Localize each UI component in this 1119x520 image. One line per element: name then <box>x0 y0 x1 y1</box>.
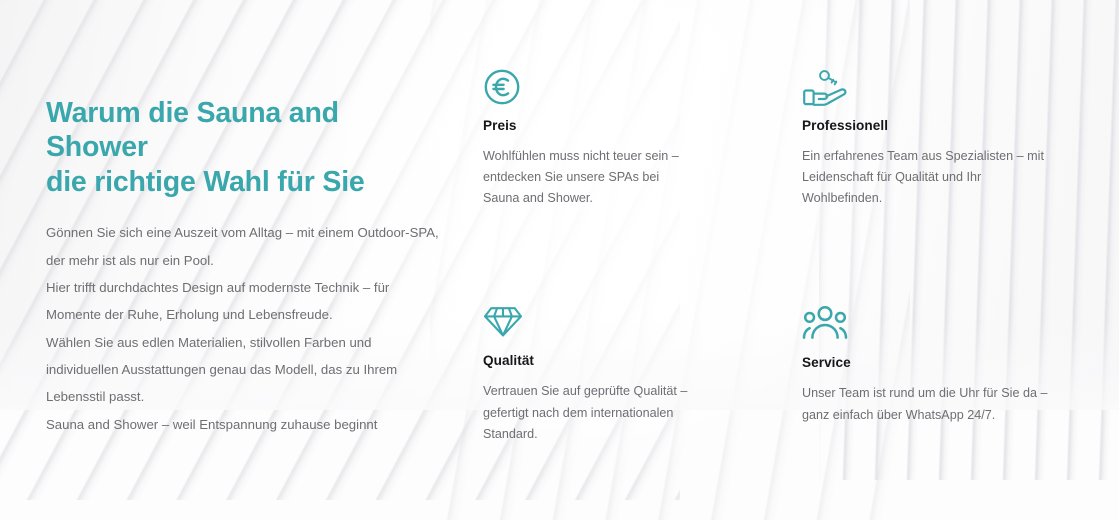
hand-key-icon <box>802 68 1057 108</box>
feature-column-1: Preis Wohlfühlen muss nicht teuer sein –… <box>483 68 698 445</box>
feature-description: Wohlfühlen muss nicht teuer sein – entde… <box>483 146 698 209</box>
feature-title: Professionell <box>802 118 1057 133</box>
feature-title: Qualität <box>483 353 698 368</box>
feature-item-preis: Preis Wohlfühlen muss nicht teuer sein –… <box>483 68 698 209</box>
why-choose-us-section: Warum die Sauna and Shower die richtige … <box>0 0 1119 410</box>
page-title: Warum die Sauna and Shower die richtige … <box>46 96 446 199</box>
feature-item-professionell: Professionell Ein erfahrenes Team aus Sp… <box>802 68 1057 209</box>
intro-body-text: Gönnen Sie sich eine Auszeit vom Alltag … <box>46 219 446 438</box>
feature-item-qualitaet: Qualität Vertrauen Sie auf geprüfte Qual… <box>483 303 698 444</box>
feature-description: Vertrauen Sie auf geprüfte Qualität – ge… <box>483 381 698 444</box>
intro-column: Warum die Sauna and Shower die richtige … <box>46 96 446 438</box>
euro-circle-icon <box>483 68 698 108</box>
people-group-icon <box>802 305 1057 345</box>
feature-description: Unser Team ist rund um die Uhr für Sie d… <box>802 383 1057 425</box>
feature-title: Service <box>802 355 1057 370</box>
feature-description: Ein erfahrenes Team aus Spezialisten – m… <box>802 146 1057 209</box>
feature-title: Preis <box>483 118 698 133</box>
diamond-icon <box>483 303 698 343</box>
feature-column-2: Professionell Ein erfahrenes Team aus Sp… <box>802 68 1057 426</box>
feature-item-service: Service Unser Team ist rund um die Uhr f… <box>802 305 1057 425</box>
